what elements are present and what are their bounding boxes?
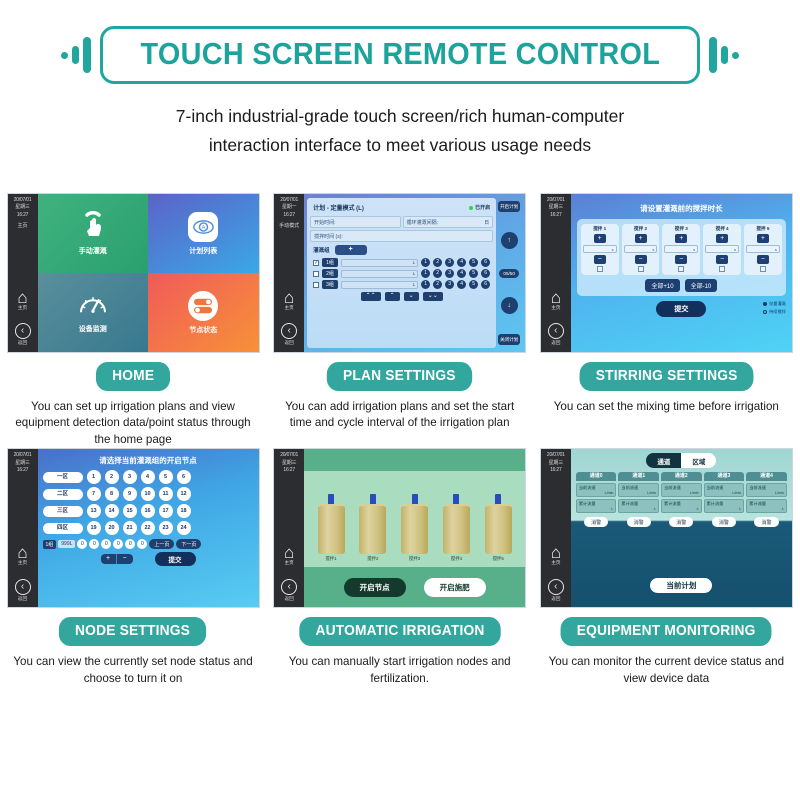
node-circle[interactable]: 5	[469, 269, 478, 278]
decrease-button[interactable]: −	[716, 255, 728, 264]
node-button[interactable]: 8	[105, 487, 119, 501]
left-equalizer-icon	[61, 37, 91, 73]
status-dot-icon	[469, 206, 473, 210]
node-bottom-row: + − 提交	[43, 552, 254, 566]
channel-card: 通道3 当前流速 L/min 累计流量 L 消警	[704, 472, 745, 527]
sidebar-back-button[interactable]: ‹ 返回	[548, 323, 564, 347]
page-indicator: 05/50	[499, 269, 519, 278]
sidebar-home-label: 主页	[284, 305, 294, 312]
node-circle[interactable]: 3	[445, 280, 454, 289]
node-button[interactable]: 11	[159, 487, 173, 501]
total-volume-unit: L	[579, 507, 614, 511]
sidebar-time: 16:27	[14, 467, 32, 474]
total-volume-unit: L	[749, 507, 784, 511]
sidebar-datetime: 20/07/01 星期三 16:27	[280, 452, 298, 474]
tank-body-icon	[443, 504, 470, 554]
caption-automatic-irrigation: AUTOMATIC IRRIGATION You can manually st…	[267, 608, 533, 687]
node-circle[interactable]: 6	[481, 258, 490, 267]
node-button[interactable]: 14	[105, 504, 119, 518]
tile-manual-irrigation[interactable]: 手动灌溉	[38, 194, 149, 273]
flow-rate-box: 当前流速 L/min	[576, 483, 617, 497]
node-circle[interactable]: 2	[433, 280, 442, 289]
field-stir-time-label: 搅拌时间 (s):	[314, 233, 343, 240]
title-row: TOUCH SCREEN REMOTE CONTROL	[0, 26, 800, 84]
plan-group-row[interactable]: 2组 L 1 2 3 4 5 6	[310, 269, 493, 278]
sidebar-back-button[interactable]: ‹ 返回	[15, 579, 31, 603]
sidebar-weekday: 星期三	[547, 460, 565, 467]
field-start-time-label: 开始时间:	[314, 219, 335, 226]
stirring-bottom-row: 提交 仅量灌溉 持续搅拌	[577, 301, 786, 317]
node-button[interactable]: 9	[123, 487, 137, 501]
sidebar-time: 16:27	[280, 467, 298, 474]
zone-label[interactable]: 四区	[43, 523, 83, 534]
screen-plan-settings[interactable]: 20/07/01 星期一 16:27 手动模式 ⌂ 主页 ‹ 返回	[273, 193, 526, 353]
toggle-switch-icon	[188, 291, 218, 321]
channel-card: 通道0 当前流速 L/min 累计流量 L 消警	[576, 472, 617, 527]
stirring-value-input[interactable]: s	[624, 245, 658, 253]
stirring-value-input[interactable]: s	[583, 245, 617, 253]
tank[interactable]: 搅拌4	[443, 494, 470, 562]
flow-rate-box: 当前流速 L/min	[661, 483, 702, 497]
sidebar-back-button[interactable]: ‹ 返回	[281, 323, 297, 347]
home-screen-body: 手动灌溉 A 计划列表 设备监测	[38, 194, 259, 352]
device-sidebar: 20/07/01 星期三 16:27 ⌂ 主页 ‹ 返回	[541, 449, 571, 607]
plan-group-row[interactable]: ✓ 1组 L 1 2 3 4 5 6	[310, 258, 493, 267]
group-checkbox[interactable]: ✓	[313, 260, 319, 266]
digit-cell[interactable]: 0	[137, 539, 147, 549]
clear-alarm-button[interactable]: 消警	[669, 517, 693, 527]
flow-rate-box: 当前流速 L/min	[704, 483, 745, 497]
screen-node-settings[interactable]: 20/07/01 星期三 16:27 ⌂ 主页 ‹ 返回 请选择当前灌溉组的开启…	[7, 448, 260, 608]
submit-button[interactable]: 提交	[155, 552, 196, 566]
node-button[interactable]: 6	[177, 470, 191, 484]
scroll-up-button[interactable]: ⌃	[385, 292, 400, 301]
sidebar-time: 16:27	[14, 212, 32, 219]
plan-status-badge: 已开启	[469, 204, 490, 211]
plan-form: 计划 - 定量模式 (L) 已开启 开始时间: 循环灌溉间隔:	[307, 198, 496, 348]
page-header: TOUCH SCREEN REMOTE CONTROL 7-inch indus…	[0, 0, 800, 160]
open-plan-button[interactable]: 开启计划	[498, 201, 520, 212]
caption-plan-settings: PLAN SETTINGS You can add irrigation pla…	[267, 353, 533, 432]
chevron-left-icon: ‹	[15, 323, 31, 339]
sidebar-weekday: 星期三	[547, 204, 565, 211]
stirring-checkbox[interactable]	[597, 266, 603, 272]
node-button[interactable]: 24	[177, 521, 191, 535]
sidebar-date: 20/07/01	[547, 452, 565, 459]
tile-node-status[interactable]: 节点状态	[148, 273, 259, 352]
device-sidebar: 20/07/01 星期一 16:27 手动模式 ⌂ 主页 ‹ 返回	[274, 194, 304, 352]
home-icon: ⌂	[17, 290, 27, 305]
monitor-tabs: 通道 区域	[571, 453, 792, 468]
flow-rate-box: 当前流速 L/min	[746, 483, 787, 497]
total-volume-box: 累计流量 L	[746, 499, 787, 513]
stepper-group: + −	[101, 554, 133, 564]
start-fertilization-button[interactable]: 开启施肥	[424, 578, 486, 597]
stirring-value-input[interactable]: s	[746, 245, 780, 253]
node-button[interactable]: 16	[141, 504, 155, 518]
current-plan-button[interactable]: 当前计划	[650, 578, 712, 593]
total-volume-box: 累计流量 L	[704, 499, 745, 513]
tile-label: 计划列表	[189, 246, 217, 256]
clear-alarm-button[interactable]: 消警	[627, 517, 651, 527]
monitor-cards: 通道0 当前流速 L/min 累计流量 L 消警	[571, 468, 792, 527]
stirring-column: 搅拌 1 + s −	[581, 224, 619, 275]
channel-card: 通道2 当前流速 L/min 累计流量 L 消警	[661, 472, 702, 527]
zone-row: 三区 13 14 15 16 17 18	[43, 504, 254, 518]
group-checkbox[interactable]	[313, 271, 319, 277]
stirring-columns: 搅拌 1 + s − 搅拌 2 + s −	[581, 224, 782, 275]
node-circle[interactable]: 3	[445, 258, 454, 267]
clear-alarm-button[interactable]: 消警	[754, 517, 778, 527]
zone-row: 二区 7 8 9 10 11 12	[43, 487, 254, 501]
plan-mode-title: 计划 - 定量模式 (L)	[313, 203, 364, 212]
sidebar-datetime: 20/07/01 星期三 16:27	[14, 452, 32, 474]
stirring-column-label: 搅拌 1	[593, 226, 606, 232]
group-volume-input[interactable]: L	[341, 259, 418, 267]
decrease-button[interactable]: −	[635, 255, 647, 264]
field-stir-time[interactable]: 搅拌时间 (s):	[310, 230, 493, 242]
node-button[interactable]: 2	[105, 470, 119, 484]
node-circle[interactable]: 5	[469, 258, 478, 267]
sidebar-back-button[interactable]: ‹ 返回	[548, 579, 564, 603]
subtitle-line-1: 7-inch industrial-grade touch screen/ric…	[0, 102, 800, 131]
node-circle[interactable]: 4	[457, 269, 466, 278]
zone-row: 一区 1 2 3 4 5 6	[43, 470, 254, 484]
stirring-column: 搅拌 5 + s −	[744, 224, 782, 275]
caption-text-plan-settings: You can add irrigation plans and set the…	[267, 399, 533, 432]
tank-body-icon	[485, 504, 512, 554]
clear-alarm-button[interactable]: 消警	[584, 517, 608, 527]
sidebar-weekday: 星期三	[14, 204, 32, 211]
node-button[interactable]: 22	[141, 521, 155, 535]
screen-stirring-settings[interactable]: 20/07/01 星期三 16:27 ⌂ 主页 ‹ 返回 请设置灌溉前的搅拌时长	[540, 193, 793, 353]
sidebar-home-button[interactable]: ⌂ 主页	[17, 290, 27, 312]
home-icon: ⌂	[17, 545, 27, 560]
node-button[interactable]: 20	[105, 521, 119, 535]
chevron-left-icon: ‹	[281, 323, 297, 339]
volume-value: 999L	[58, 540, 75, 548]
sidebar-back-label: 返回	[15, 596, 31, 603]
tank-body-icon	[359, 504, 386, 554]
node-circle[interactable]: 4	[457, 258, 466, 267]
flow-rate-unit: L/min	[579, 491, 614, 495]
group-volume-input[interactable]: L	[341, 270, 418, 278]
increase-button[interactable]: +	[716, 234, 728, 243]
stirring-value-input[interactable]: s	[705, 245, 739, 253]
tank-body-icon	[318, 504, 345, 554]
sidebar-datetime: 20/07/01 星期三 16:27	[14, 197, 32, 219]
node-button[interactable]: 5	[159, 470, 173, 484]
plan-status-text: 已开启	[475, 204, 490, 211]
sidebar-home-button[interactable]: ⌂ 主页	[284, 545, 294, 567]
sidebar-home-label: 主页	[551, 305, 561, 312]
auto-action-row: 开启节点 开启施肥	[304, 567, 525, 607]
sidebar-home-button[interactable]: ⌂ 主页	[551, 545, 561, 567]
plan-group-row[interactable]: 3组 L 1 2 3 4 5 6	[310, 280, 493, 289]
tank-label: 搅拌1	[325, 556, 336, 562]
sidebar-page-label: 主页	[17, 223, 27, 230]
node-circle[interactable]: 1	[421, 269, 430, 278]
tank-label: 搅拌4	[451, 556, 462, 562]
caption-stirring-settings: STIRRING SETTINGS You can set the mixing…	[533, 353, 799, 415]
field-cycle-label: 循环灌溉间隔:	[407, 219, 438, 226]
decrease-button[interactable]: −	[675, 255, 687, 264]
node-button[interactable]: 19	[87, 521, 101, 535]
stirring-checkbox[interactable]	[638, 266, 644, 272]
field-start-time[interactable]: 开始时间:	[310, 216, 401, 228]
node-button[interactable]: 17	[159, 504, 173, 518]
flow-rate-box: 当前流速 L/min	[618, 483, 659, 497]
submit-button[interactable]: 提交	[656, 301, 706, 317]
radio-dot-icon	[763, 302, 767, 306]
channel-title: 通道1	[618, 472, 659, 481]
flow-rate-unit: L/min	[621, 491, 656, 495]
total-volume-box: 累计流量 L	[576, 499, 617, 513]
stirring-column-label: 搅拌 5	[756, 226, 769, 232]
group-tag: 1组	[322, 258, 338, 267]
screen-home[interactable]: 20/07/01 星期三 16:27 主页 ⌂ 主页 ‹ 返回	[7, 193, 260, 353]
device-sidebar: 20/07/01 星期三 16:27 主页 ⌂ 主页 ‹ 返回	[8, 194, 38, 352]
page-subtitle: 7-inch industrial-grade touch screen/ric…	[0, 102, 800, 160]
node-button[interactable]: 12	[177, 487, 191, 501]
device-sidebar: 20/07/01 星期三 16:27 ⌂ 主页 ‹ 返回	[8, 449, 38, 607]
sidebar-weekday: 星期三	[14, 460, 32, 467]
close-plan-button[interactable]: 关闭计划	[498, 334, 520, 345]
channel-title: 通道3	[704, 472, 745, 481]
badge-home: HOME	[96, 362, 170, 391]
plan-screen-body: 计划 - 定量模式 (L) 已开启 开始时间: 循环灌溉间隔:	[304, 194, 525, 352]
node-circle[interactable]: 1	[421, 280, 430, 289]
sidebar-date: 20/07/01	[280, 452, 298, 459]
increase-button[interactable]: +	[594, 234, 606, 243]
total-volume-unit: L	[664, 507, 699, 511]
plan-scroll-arrows: ⌃⌃ ⌃ ⌄ ⌄⌄	[310, 292, 493, 301]
sidebar-datetime: 20/07/01 星期三 16:27	[547, 197, 565, 219]
node-circle[interactable]: 2	[433, 269, 442, 278]
decrease-button[interactable]: −	[757, 255, 769, 264]
tab-area[interactable]: 区域	[681, 453, 716, 468]
stirring-checkbox[interactable]	[719, 266, 725, 272]
stirring-checkbox[interactable]	[760, 266, 766, 272]
radio-label: 仅量灌溉	[769, 301, 786, 307]
node-button[interactable]: 10	[141, 487, 155, 501]
node-circle[interactable]: 6	[481, 269, 490, 278]
cell-plan-settings: 20/07/01 星期一 16:27 手动模式 ⌂ 主页 ‹ 返回	[267, 193, 533, 448]
node-circle[interactable]: 3	[445, 269, 454, 278]
right-equalizer-icon	[709, 37, 739, 73]
sidebar-date: 20/07/01	[14, 197, 32, 204]
stirring-column-label: 搅拌 4	[716, 226, 729, 232]
increase-button[interactable]: +	[675, 234, 687, 243]
home-icon: ⌂	[284, 545, 294, 560]
tile-label: 节点状态	[189, 325, 217, 335]
scroll-bottom-button[interactable]: ⌄⌄	[423, 292, 443, 301]
sidebar-back-button[interactable]: ‹ 返回	[15, 323, 31, 347]
zone-label[interactable]: 一区	[43, 472, 83, 483]
channel-title: 通道2	[661, 472, 702, 481]
tank-label: 搅拌3	[409, 556, 420, 562]
sidebar-time: 16:27	[280, 212, 298, 219]
radio-dot-icon	[763, 310, 767, 314]
node-circle[interactable]: 2	[433, 258, 442, 267]
field-cycle-unit: 日	[484, 219, 489, 226]
caption-home: HOME You can set up irrigation plans and…	[0, 353, 266, 448]
radio-option-other[interactable]: 持续搅拌	[763, 309, 786, 315]
stirring-column-label: 搅拌 3	[675, 226, 688, 232]
monitor-plan-row: 当前计划	[571, 575, 792, 593]
caption-equipment-monitoring: EQUIPMENT MONITORING You can monitor the…	[533, 608, 799, 687]
scroll-down-button[interactable]: ⌄	[404, 292, 419, 301]
group-checkbox[interactable]	[313, 282, 319, 288]
sidebar-back-label: 返回	[548, 596, 564, 603]
hand-touch-icon	[78, 211, 108, 242]
sidebar-back-label: 返回	[15, 340, 31, 347]
digit-cell[interactable]: 0	[125, 539, 135, 549]
start-node-button[interactable]: 开启节点	[344, 578, 406, 597]
badge-stirring-settings: STIRRING SETTINGS	[579, 362, 753, 391]
sidebar-back-button[interactable]: ‹ 返回	[281, 579, 297, 603]
all-minus-10-button[interactable]: 全部-10	[685, 279, 718, 292]
node-button[interactable]: 18	[177, 504, 191, 518]
field-cycle-interval[interactable]: 循环灌溉间隔: 日	[403, 216, 494, 228]
sidebar-back-label: 返回	[281, 596, 297, 603]
node-circle[interactable]: 4	[457, 280, 466, 289]
plan-side-controls: 开启计划 ↑ 05/50 ↓ 关闭计划	[496, 198, 522, 348]
tank[interactable]: 搅拌1	[318, 494, 345, 562]
zone-label[interactable]: 三区	[43, 506, 83, 517]
zone-label[interactable]: 二区	[43, 489, 83, 500]
subtitle-line-2: interaction interface to meet various us…	[0, 131, 800, 160]
badge-automatic-irrigation: AUTOMATIC IRRIGATION	[299, 617, 500, 646]
screens-grid: 20/07/01 星期三 16:27 主页 ⌂ 主页 ‹ 返回	[0, 193, 800, 687]
node-button[interactable]: 3	[123, 470, 137, 484]
node-screen-body: 请选择当前灌溉组的开启节点 一区 1 2 3 4 5 6 二区 7 8	[38, 449, 259, 607]
chevron-left-icon: ‹	[281, 579, 297, 595]
sidebar-home-label: 主页	[284, 560, 294, 567]
node-button[interactable]: 4	[141, 470, 155, 484]
sidebar-home-button[interactable]: ⌂ 主页	[17, 545, 27, 567]
home-icon: ⌂	[551, 545, 561, 560]
gauge-icon	[78, 291, 108, 320]
increase-button[interactable]: +	[635, 234, 647, 243]
sidebar-datetime: 20/07/01 星期三 16:27	[547, 452, 565, 474]
plan-eye-icon: A	[188, 212, 218, 242]
tile-plan-list[interactable]: A 计划列表	[148, 194, 259, 273]
node-button[interactable]: 13	[87, 504, 101, 518]
page-title: TOUCH SCREEN REMOTE CONTROL	[140, 36, 660, 72]
node-button[interactable]: 21	[123, 521, 137, 535]
node-button[interactable]: 23	[159, 521, 173, 535]
prev-page-button[interactable]: 上一页	[149, 539, 174, 549]
chevron-left-icon: ‹	[548, 323, 564, 339]
digit-cell[interactable]: 0	[101, 539, 111, 549]
sidebar-time: 16:27	[547, 212, 565, 219]
group-tag: 2组	[322, 269, 338, 278]
plan-header-row: 计划 - 定量模式 (L) 已开启	[310, 201, 493, 214]
increase-button[interactable]: +	[757, 234, 769, 243]
tile-label: 设备监测	[79, 324, 107, 334]
sidebar-mode-label: 手动模式	[279, 223, 299, 230]
scroll-top-button[interactable]: ⌃⌃	[361, 292, 381, 301]
device-sidebar: 20/07/01 星期三 16:27 ⌂ 主页 ‹ 返回	[541, 194, 571, 352]
sidebar-weekday: 星期一	[280, 204, 298, 211]
group-volume-input[interactable]: L	[341, 281, 418, 289]
device-sidebar: 20/07/01 星期三 16:27 ⌂ 主页 ‹ 返回	[274, 449, 304, 607]
tab-channel[interactable]: 通道	[646, 453, 681, 468]
digit-cell[interactable]: 0	[77, 539, 87, 549]
irrigation-group-row: 灌溉组 +	[310, 244, 493, 256]
next-page-button[interactable]: 下一页	[176, 539, 201, 549]
title-box: TOUCH SCREEN REMOTE CONTROL	[100, 26, 701, 84]
total-volume-box: 累计流量 L	[661, 499, 702, 513]
auto-screen-body: 搅拌1 搅拌2 搅拌3	[304, 449, 525, 607]
flow-rate-unit: L/min	[707, 491, 742, 495]
all-plus-10-button[interactable]: 全部+10	[645, 279, 679, 292]
tank[interactable]: 搅拌2	[359, 494, 386, 562]
auto-top-bar	[304, 449, 525, 471]
channel-card: 通道1 当前流速 L/min 累计流量 L 消警	[618, 472, 659, 527]
tank[interactable]: 搅拌3	[401, 494, 428, 562]
digit-cell[interactable]: 0	[89, 539, 99, 549]
group-tag: 3组	[322, 280, 338, 289]
screen-automatic-irrigation[interactable]: 20/07/01 星期三 16:27 ⌂ 主页 ‹ 返回	[273, 448, 526, 608]
sidebar-back-label: 返回	[548, 340, 564, 347]
sidebar-home-label: 主页	[17, 305, 27, 312]
stirring-card: 搅拌 1 + s − 搅拌 2 + s −	[577, 219, 786, 296]
sidebar-home-button[interactable]: ⌂ 主页	[284, 290, 294, 312]
stirring-checkbox[interactable]	[678, 266, 684, 272]
node-button[interactable]: 15	[123, 504, 137, 518]
badge-node-settings: NODE SETTINGS	[59, 617, 206, 646]
tank-label: 搅拌2	[367, 556, 378, 562]
decrease-button[interactable]: −	[594, 255, 606, 264]
caption-text-home: You can set up irrigation plans and view…	[0, 399, 266, 448]
tank[interactable]: 搅拌5	[485, 494, 512, 562]
sidebar-weekday: 星期三	[280, 460, 298, 467]
node-title: 请选择当前灌溉组的开启节点	[43, 455, 254, 466]
node-circle[interactable]: 5	[469, 280, 478, 289]
node-circle[interactable]: 1	[421, 258, 430, 267]
cell-home: 20/07/01 星期三 16:27 主页 ⌂ 主页 ‹ 返回	[0, 193, 266, 448]
node-button[interactable]: 1	[87, 470, 101, 484]
clear-alarm-button[interactable]: 消警	[712, 517, 736, 527]
badge-plan-settings: PLAN SETTINGS	[327, 362, 472, 391]
decrease-button[interactable]: −	[117, 554, 133, 564]
flow-rate-unit: L/min	[664, 491, 699, 495]
page-up-button[interactable]: ↑	[501, 232, 518, 249]
tank-body-icon	[401, 504, 428, 554]
add-group-button[interactable]: +	[335, 245, 367, 255]
stirring-bulk-buttons: 全部+10 全部-10	[581, 279, 782, 292]
node-button[interactable]: 7	[87, 487, 101, 501]
sidebar-date: 20/07/01	[280, 197, 298, 204]
digit-cell[interactable]: 0	[113, 539, 123, 549]
stirring-screen-body: 请设置灌溉前的搅拌时长 搅拌 1 + s − 搅拌 2	[571, 194, 792, 352]
increase-button[interactable]: +	[101, 554, 117, 564]
chevron-left-icon: ‹	[548, 579, 564, 595]
sidebar-date: 20/07/01	[547, 197, 565, 204]
node-circle[interactable]: 6	[481, 280, 490, 289]
sidebar-home-button[interactable]: ⌂ 主页	[551, 290, 561, 312]
radio-option-selected[interactable]: 仅量灌溉	[763, 301, 786, 307]
tank-row: 搅拌1 搅拌2 搅拌3	[304, 471, 525, 567]
screen-equipment-monitoring[interactable]: 20/07/01 星期三 16:27 ⌂ 主页 ‹ 返回 通道 区域	[540, 448, 793, 608]
tile-device-monitor[interactable]: 设备监测	[38, 273, 149, 352]
channel-title: 通道0	[576, 472, 617, 481]
stirring-column-label: 搅拌 2	[634, 226, 647, 232]
page-down-button[interactable]: ↓	[501, 297, 518, 314]
stirring-value-input[interactable]: s	[664, 245, 698, 253]
